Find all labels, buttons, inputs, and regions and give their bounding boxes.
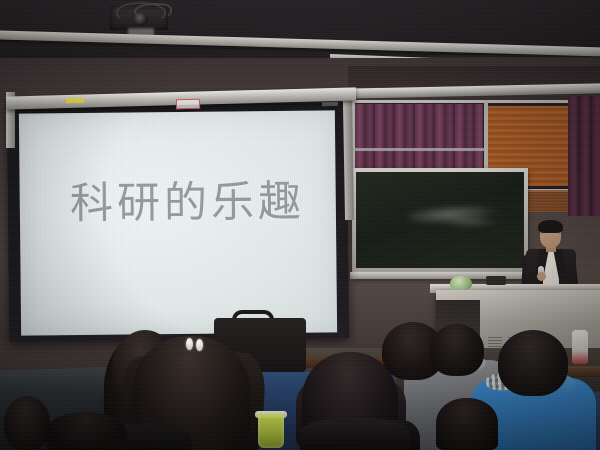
presenter-hand	[537, 272, 546, 281]
projector-mount	[128, 28, 154, 36]
projector-cable-secondary	[134, 3, 172, 19]
hair-clip-bead	[186, 338, 193, 350]
rail-tag	[322, 102, 338, 106]
student-head	[300, 418, 410, 450]
desk-object	[486, 276, 506, 285]
hair-clip-bead	[196, 339, 203, 351]
green-drink-cup	[258, 414, 284, 448]
lecture-hall-photo: 科研的乐趣	[0, 0, 600, 450]
chalk-smudge-secondary	[440, 216, 500, 228]
student-head	[498, 330, 568, 396]
student-head	[4, 396, 50, 450]
window-mullion-horizontal	[352, 148, 484, 151]
potted-plant	[450, 276, 472, 290]
water-bottle	[572, 330, 588, 364]
podium-vent	[488, 337, 502, 347]
student-head	[436, 398, 498, 450]
stage-curtain-right	[568, 96, 600, 216]
slide-title: 科研的乐趣	[70, 181, 310, 226]
yellow-sticker	[66, 98, 84, 103]
hair-clip	[186, 338, 206, 350]
student-head	[430, 324, 484, 376]
presenter	[518, 218, 584, 294]
red-label-sticker	[176, 99, 200, 110]
ceiling-projector	[104, 2, 174, 32]
glasses-icon	[541, 232, 560, 238]
student-head	[46, 412, 126, 450]
